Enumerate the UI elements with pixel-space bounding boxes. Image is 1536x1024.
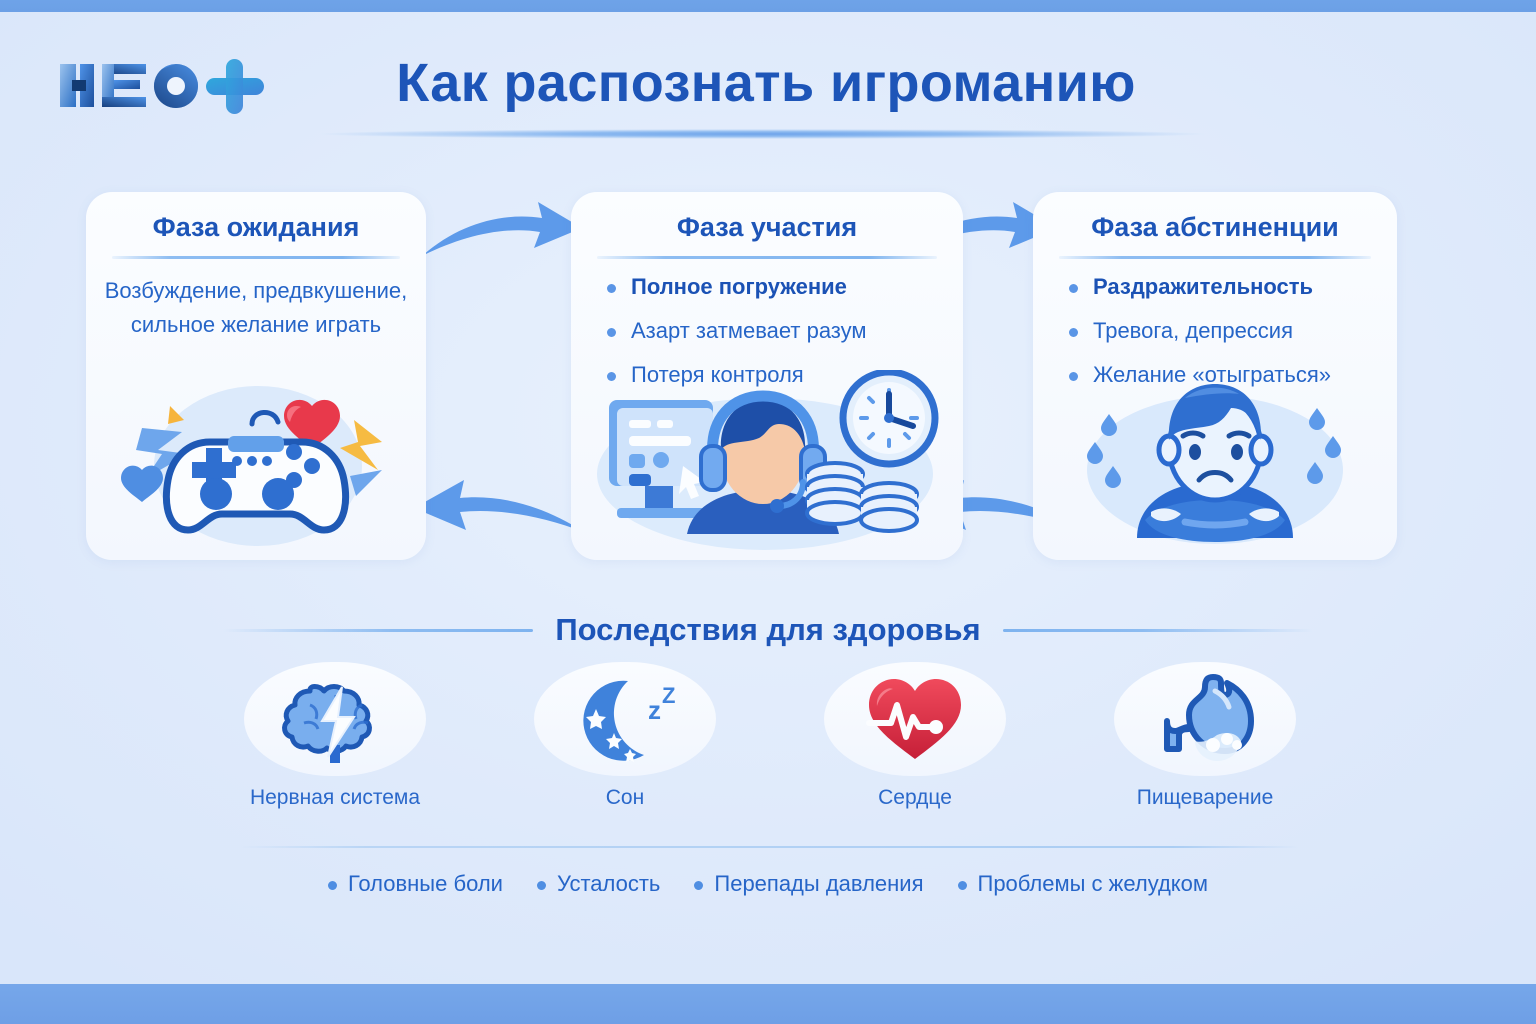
health-header-title: Последствия для здоровья — [555, 612, 980, 648]
phase-card-description: Возбуждение, предвкушение, сильное желан… — [100, 274, 412, 342]
phase-card-title: Фаза абстиненции — [1033, 212, 1397, 243]
icon-blob — [824, 662, 1006, 776]
health-header-rule-right — [1003, 629, 1313, 632]
icon-blob — [1114, 662, 1296, 776]
phase-card-divider — [597, 256, 937, 259]
gamer-monitor-clock-coins-illustration — [571, 370, 963, 560]
svg-text:Z: Z — [662, 683, 675, 708]
health-item-sleep: z Z Сон — [520, 662, 730, 834]
list-item: Полное погружение — [601, 272, 949, 302]
top-accent-band — [0, 0, 1536, 12]
health-header-rule-left — [223, 629, 533, 632]
phase-card-anticipation: Фаза ожидания Возбуждение, предвкушение,… — [86, 192, 426, 560]
phase-card-divider — [112, 256, 400, 259]
infographic-canvas: Как распознать игроманию Фаза ожидания В… — [0, 0, 1536, 1024]
symptoms-divider — [238, 846, 1300, 848]
gamepad-hearts-illustration — [86, 370, 426, 560]
health-item-nervous-system: Нервная система — [230, 662, 440, 834]
phase-card-participation: Фаза участия Полное погружение Азарт зат… — [571, 192, 963, 560]
phase-card-abstinence: Фаза абстиненции Раздражительность Трево… — [1033, 192, 1397, 560]
title-underline — [318, 128, 1206, 140]
list-item: Азарт затмевает разум — [601, 316, 949, 346]
moon-stars-zzz-icon: z Z — [570, 673, 680, 765]
symptom-item: Усталость — [537, 871, 660, 897]
arrow-return-participation-to-anticipation — [408, 476, 588, 546]
symptom-item: Проблемы с желудком — [958, 871, 1209, 897]
list-item: Раздражительность — [1063, 272, 1383, 302]
brand-logo — [36, 44, 296, 116]
health-item-heart: Сердце — [810, 662, 1020, 834]
icon-blob — [244, 662, 426, 776]
health-item-label: Пищеварение — [1100, 786, 1310, 810]
phase-card-title: Фаза участия — [571, 212, 963, 243]
phase-card-divider — [1059, 256, 1371, 259]
symptoms-row: Головные боли Усталость Перепады давлени… — [0, 862, 1536, 906]
health-consequences-header: Последствия для здоровья — [0, 608, 1536, 652]
heart-pulse-icon — [863, 673, 967, 765]
health-item-label: Сон — [520, 786, 730, 810]
health-icons-row: Нервная система z Z Сон — [230, 662, 1310, 834]
health-item-label: Нервная система — [230, 786, 440, 810]
svg-text:z: z — [648, 695, 661, 725]
brain-lightning-icon — [280, 673, 390, 765]
page-title: Как распознать игроманию — [346, 48, 1186, 118]
phase-card-title: Фаза ожидания — [86, 212, 426, 243]
list-item: Тревога, депрессия — [1063, 316, 1383, 346]
health-item-label: Сердце — [810, 786, 1020, 810]
symptom-item: Перепады давления — [694, 871, 923, 897]
health-item-digestion: Пищеварение — [1100, 662, 1310, 834]
icon-blob: z Z — [534, 662, 716, 776]
stomach-icon — [1153, 671, 1257, 767]
symptom-item: Головные боли — [328, 871, 503, 897]
arrow-forward-anticipation-to-participation — [418, 198, 586, 268]
sad-person-illustration — [1033, 370, 1397, 560]
bottom-accent-band — [0, 984, 1536, 1024]
